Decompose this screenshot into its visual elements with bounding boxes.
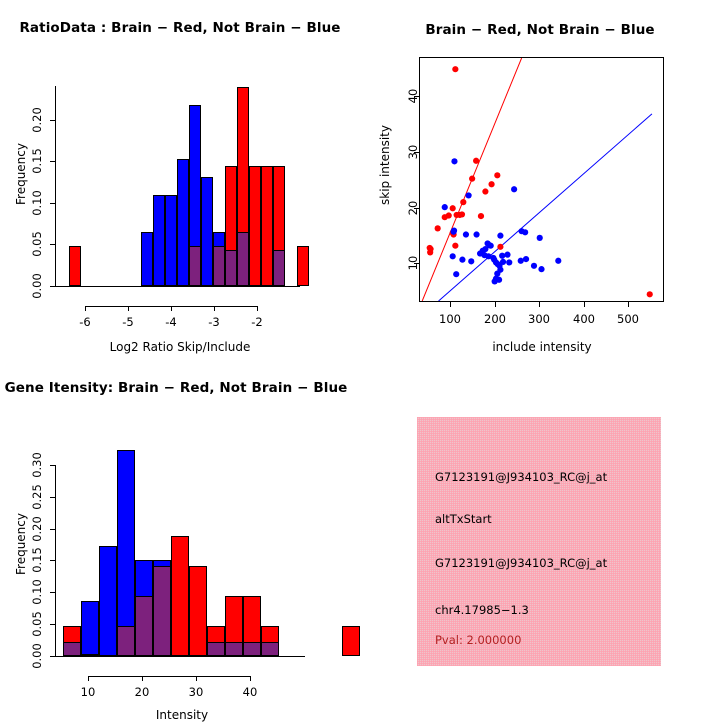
gene-bars-group <box>55 420 305 656</box>
gene-x-tick-30 <box>196 676 197 681</box>
ratio-bar-purple-2 <box>225 250 237 286</box>
ratio-y-ticklabel-3: 0.15 <box>30 148 44 174</box>
ratio-bar-red-3 <box>249 166 261 286</box>
ratio-bar-red-6 <box>297 246 309 286</box>
ratio-x-tick-4 <box>257 306 258 311</box>
info-panel-background <box>417 417 661 666</box>
gene-y-ticklabel-4: 0.20 <box>30 516 44 542</box>
gene-bar-purple-0 <box>63 642 81 656</box>
info-event-type: altTxStart <box>435 512 492 526</box>
scatter-point <box>523 256 529 262</box>
scatter-point <box>555 258 561 264</box>
gene-y-ticklabel-2: 0.10 <box>30 579 44 605</box>
scatter-point <box>537 235 543 241</box>
gene-x-tick-40 <box>250 676 251 681</box>
scatter-point <box>459 211 465 217</box>
gene-bar-red-10 <box>342 626 360 656</box>
scatter-point <box>427 249 433 255</box>
ratio-bar-purple-4 <box>273 250 285 286</box>
scatter-y-ticklabel-3: 40 <box>406 89 420 104</box>
scatter-point <box>473 158 479 164</box>
scatter-x-ticklabel-1: 200 <box>484 312 506 326</box>
gene-y-ticklabel-3: 0.15 <box>30 547 44 573</box>
ratio-bar-blue-1 <box>153 195 165 286</box>
scatter-point <box>506 259 512 265</box>
scatter-line-not-brain-fit <box>439 114 652 301</box>
ratio-bar-blue-3 <box>177 159 189 286</box>
ratio-bar-blue-2 <box>165 195 177 286</box>
ratio-x-ticklabel-0: -6 <box>79 315 90 329</box>
ratio-y-ticklabel-0: 0.00 <box>30 273 44 299</box>
scatter-x-ticklabel-0: 100 <box>439 312 461 326</box>
scatter-point <box>450 253 456 259</box>
panel-intensity-scatter: Brain − Red, Not Brain − Blue skip inten… <box>360 0 720 360</box>
scatter-title: Brain − Red, Not Brain − Blue <box>360 22 720 38</box>
gene-x-ticklabel-2: 30 <box>189 685 204 699</box>
scatter-y-ticklabel-0: 10 <box>406 256 420 271</box>
scatter-point <box>522 229 528 235</box>
gene-bar-blue-1 <box>99 546 117 656</box>
scatter-point <box>451 158 457 164</box>
ratio-baseline <box>55 286 300 287</box>
scatter-x-ticklabel-4: 500 <box>617 312 639 326</box>
ratio-x-ticklabel-4: -2 <box>251 315 262 329</box>
scatter-point <box>469 176 475 182</box>
scatter-point <box>463 231 469 237</box>
scatter-x-ticklabel-3: 400 <box>573 312 595 326</box>
scatter-y-ticklabel-2: 30 <box>406 145 420 160</box>
gene-y-ticklabel-6: 0.30 <box>30 452 44 478</box>
gene-histogram-title: Gene Itensity: Brain − Red, Not Brain − … <box>0 380 360 396</box>
ratio-x-ticklabel-3: -3 <box>208 315 219 329</box>
scatter-point <box>511 186 517 192</box>
gene-bar-purple-5 <box>207 642 225 656</box>
scatter-point <box>468 258 474 264</box>
ratio-bar-red-4 <box>261 166 273 286</box>
gene-bar-purple-6 <box>225 642 243 656</box>
gene-bar-purple-1 <box>81 654 99 656</box>
scatter-x-tick-200 <box>495 302 496 307</box>
scatter-point <box>494 172 500 178</box>
scatter-point <box>504 252 510 258</box>
ratio-x-axis-label: Log2 Ratio Skip/Include <box>110 340 251 354</box>
ratio-x-tick-2 <box>171 306 172 311</box>
info-gene-id: G7123191@J934103_RC@j_at <box>435 556 607 570</box>
gene-bar-purple-8 <box>261 642 279 656</box>
gene-bar-red-4 <box>171 536 189 656</box>
scatter-point <box>488 243 494 249</box>
scatter-point <box>466 192 472 198</box>
scatter-point <box>451 228 457 234</box>
scatter-point <box>497 233 503 239</box>
ratio-y-axis-label: Frequency <box>14 143 28 205</box>
ratio-x-ticklabel-1: -5 <box>122 315 133 329</box>
info-locus: chr4.17985−1.3 <box>435 603 529 617</box>
scatter-point <box>499 253 505 259</box>
scatter-point <box>460 199 466 205</box>
scatter-x-axis-label: include intensity <box>492 340 591 354</box>
scatter-point <box>435 225 441 231</box>
scatter-point <box>452 66 458 72</box>
scatter-point <box>473 231 479 237</box>
ratio-y-ticklabel-1: 0.05 <box>30 231 44 257</box>
ratio-x-tick-3 <box>214 306 215 311</box>
gene-bar-blue-0 <box>81 601 99 656</box>
gene-bar-purple-3 <box>135 596 153 656</box>
scatter-point <box>496 277 502 283</box>
scatter-point <box>518 258 524 264</box>
scatter-point <box>442 204 448 210</box>
gene-y-ticklabel-1: 0.05 <box>30 611 44 637</box>
ratio-x-ticklabel-2: -4 <box>165 315 176 329</box>
ratio-x-tick-0 <box>85 306 86 311</box>
gene-bar-purple-4 <box>153 566 171 656</box>
scatter-x-tick-500 <box>628 302 629 307</box>
figure-canvas: RatioData : Brain − Red, Not Brain − Blu… <box>0 0 720 720</box>
gene-y-ticklabel-5: 0.25 <box>30 484 44 510</box>
ratio-x-tick-1 <box>128 306 129 311</box>
scatter-y-axis-label: skip intensity <box>378 125 392 205</box>
ratio-bar-purple-1 <box>213 246 225 286</box>
scatter-x-tick-400 <box>584 302 585 307</box>
scatter-point <box>452 243 458 249</box>
scatter-x-tick-100 <box>450 302 451 307</box>
gene-bar-purple-7 <box>243 642 261 656</box>
gene-x-ticklabel-0: 10 <box>81 685 96 699</box>
scatter-x-tick-300 <box>539 302 540 307</box>
gene-baseline <box>55 656 305 657</box>
scatter-data-layer <box>420 58 663 301</box>
gene-bar-purple-2 <box>117 626 135 656</box>
ratio-histogram-title: RatioData : Brain − Red, Not Brain − Blu… <box>0 20 360 36</box>
ratio-bar-purple-3 <box>237 232 249 286</box>
gene-x-tick-10 <box>88 676 89 681</box>
scatter-point <box>442 214 448 220</box>
scatter-y-ticklabel-1: 20 <box>406 201 420 216</box>
scatter-point <box>478 213 484 219</box>
scatter-point <box>459 257 465 263</box>
scatter-point <box>482 188 488 194</box>
scatter-point <box>488 181 494 187</box>
scatter-point <box>647 291 653 297</box>
scatter-point <box>538 266 544 272</box>
gene-x-tick-20 <box>142 676 143 681</box>
scatter-point <box>497 244 503 250</box>
panel-gene-histogram: Gene Itensity: Brain − Red, Not Brain − … <box>0 360 360 720</box>
info-pval: Pval: 2.000000 <box>435 633 521 647</box>
scatter-point <box>450 205 456 211</box>
info-probeset-id: G7123191@J934103_RC@j_at <box>435 470 607 484</box>
gene-y-axis-label: Frequency <box>14 513 28 575</box>
panel-ratio-histogram: RatioData : Brain − Red, Not Brain − Blu… <box>0 0 360 360</box>
panel-gene-info: G7123191@J934103_RC@j_at altTxStart G712… <box>360 360 720 720</box>
ratio-bars-group <box>55 86 300 286</box>
scatter-point <box>453 271 459 277</box>
ratio-bar-purple-0 <box>189 246 201 286</box>
ratio-bar-blue-5 <box>201 177 213 286</box>
ratio-y-ticklabel-4: 0.20 <box>30 107 44 133</box>
gene-x-axis-line <box>88 676 250 677</box>
gene-x-ticklabel-1: 20 <box>135 685 150 699</box>
scatter-point <box>500 259 506 265</box>
ratio-y-ticklabel-2: 0.10 <box>30 190 44 216</box>
gene-bar-red-5 <box>189 566 207 656</box>
ratio-bar-red-0 <box>69 246 81 286</box>
scatter-point <box>531 263 537 269</box>
gene-x-ticklabel-3: 40 <box>243 685 258 699</box>
scatter-x-ticklabel-2: 300 <box>528 312 550 326</box>
gene-y-ticklabel-0: 0.00 <box>30 643 44 669</box>
ratio-bar-blue-0 <box>141 232 153 286</box>
